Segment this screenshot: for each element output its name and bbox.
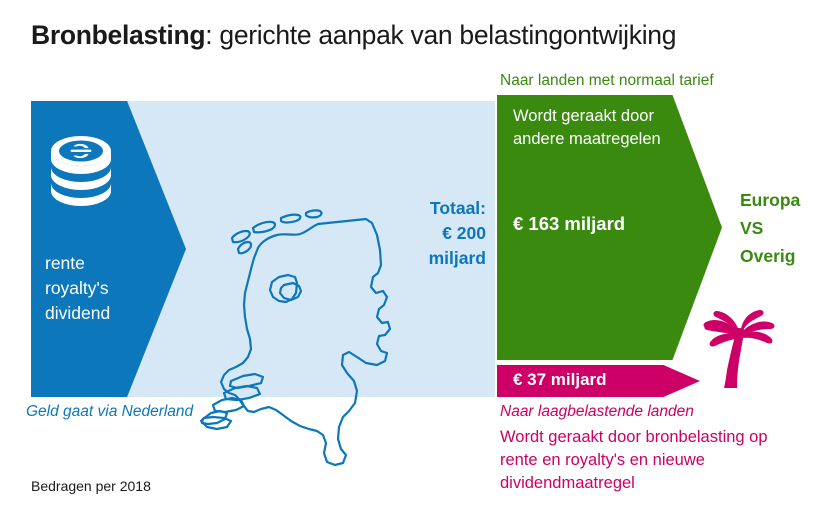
green-branch-amount: € 163 miljard [513,213,625,235]
money-type-dividend: dividend [45,301,165,326]
pink-branch-body: Wordt geraakt door bronbelasting op rent… [500,426,800,495]
destination-vs: VS [740,214,800,242]
title-rest: : gerichte aanpak van belastingontwijkin… [205,20,676,50]
money-types-label: rente royalty's dividend [45,251,165,326]
total-line-3: miljard [370,246,486,271]
pink-branch-subtitle: Naar laagbelastende landen [500,403,694,421]
destination-overig: Overig [740,242,800,270]
money-route-caption: Geld gaat via Nederland [26,403,193,421]
total-line-2: € 200 [370,221,486,246]
destination-europa: Europa [740,186,800,214]
total-line-1: Totaal: [370,196,486,221]
footer-note: Bedragen per 2018 [31,478,151,494]
green-branch-body: Wordt geraakt door andere maatregelen [513,105,678,151]
page-title: Bronbelasting: gerichte aanpak van belas… [31,18,811,52]
green-branch-arrow: Wordt geraakt door andere maatregelen € … [497,95,722,360]
pink-branch-amount: € 37 miljard [513,370,607,390]
title-bold-part: Bronbelasting [31,20,205,50]
total-amount-label: Totaal: € 200 miljard [370,196,486,271]
palm-tree-icon [700,308,778,388]
green-branch-destinations: Europa VS Overig [740,186,800,270]
money-type-rente: rente [45,251,165,276]
money-type-royalties: royalty's [45,276,165,301]
green-branch-heading: Naar landen met normaal tarief [500,72,714,90]
infographic-root: Bronbelasting: gerichte aanpak van belas… [0,0,830,506]
pink-branch-arrow: € 37 miljard [497,365,700,397]
coin-stack-euro-icon [45,131,117,211]
